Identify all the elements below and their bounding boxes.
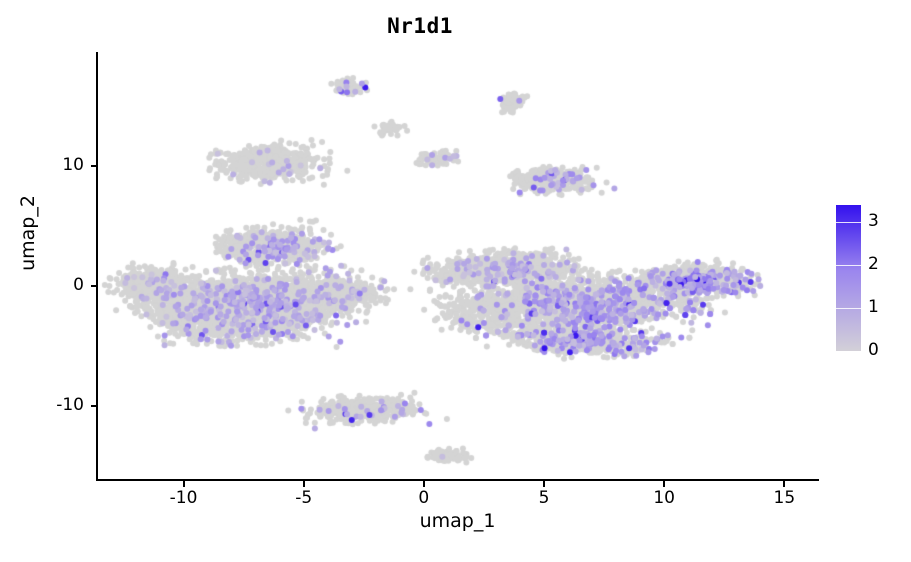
y-tick-mark (91, 285, 97, 287)
y-tick-label: -10 (0, 395, 84, 415)
colorbar-gradient (836, 205, 861, 351)
scatter-plot-canvas (0, 0, 911, 562)
colorbar-tick-label: 0 (868, 340, 879, 360)
colorbar-tick-mark (836, 308, 861, 309)
x-tick-label: 0 (394, 488, 454, 508)
x-tick-mark (543, 481, 545, 487)
x-axis-spine (96, 479, 819, 481)
colorbar-tick-mark (836, 265, 861, 266)
x-tick-mark (783, 481, 785, 487)
y-tick-label: 0 (0, 275, 84, 295)
y-axis-label: umap_2 (17, 163, 39, 303)
y-axis-spine (96, 52, 98, 481)
x-tick-mark (303, 481, 305, 487)
colorbar-tick-label: 3 (868, 211, 879, 231)
x-tick-label: -5 (274, 488, 334, 508)
x-tick-mark (183, 481, 185, 487)
x-tick-label: -10 (154, 488, 214, 508)
colorbar-tick-mark (836, 222, 861, 223)
y-tick-mark (91, 405, 97, 407)
x-tick-label: 5 (514, 488, 574, 508)
x-tick-mark (423, 481, 425, 487)
y-tick-label: 10 (0, 155, 84, 175)
colorbar-tick-label: 2 (868, 254, 879, 274)
umap-feature-plot: Nr1d1 -10-5051015 100-10 umap_1 umap_2 3… (0, 0, 911, 562)
x-tick-label: 10 (634, 488, 694, 508)
colorbar-tick-label: 1 (868, 297, 879, 317)
x-tick-label: 15 (754, 488, 814, 508)
x-axis-label: umap_1 (97, 510, 818, 532)
y-tick-mark (91, 165, 97, 167)
x-tick-mark (663, 481, 665, 487)
